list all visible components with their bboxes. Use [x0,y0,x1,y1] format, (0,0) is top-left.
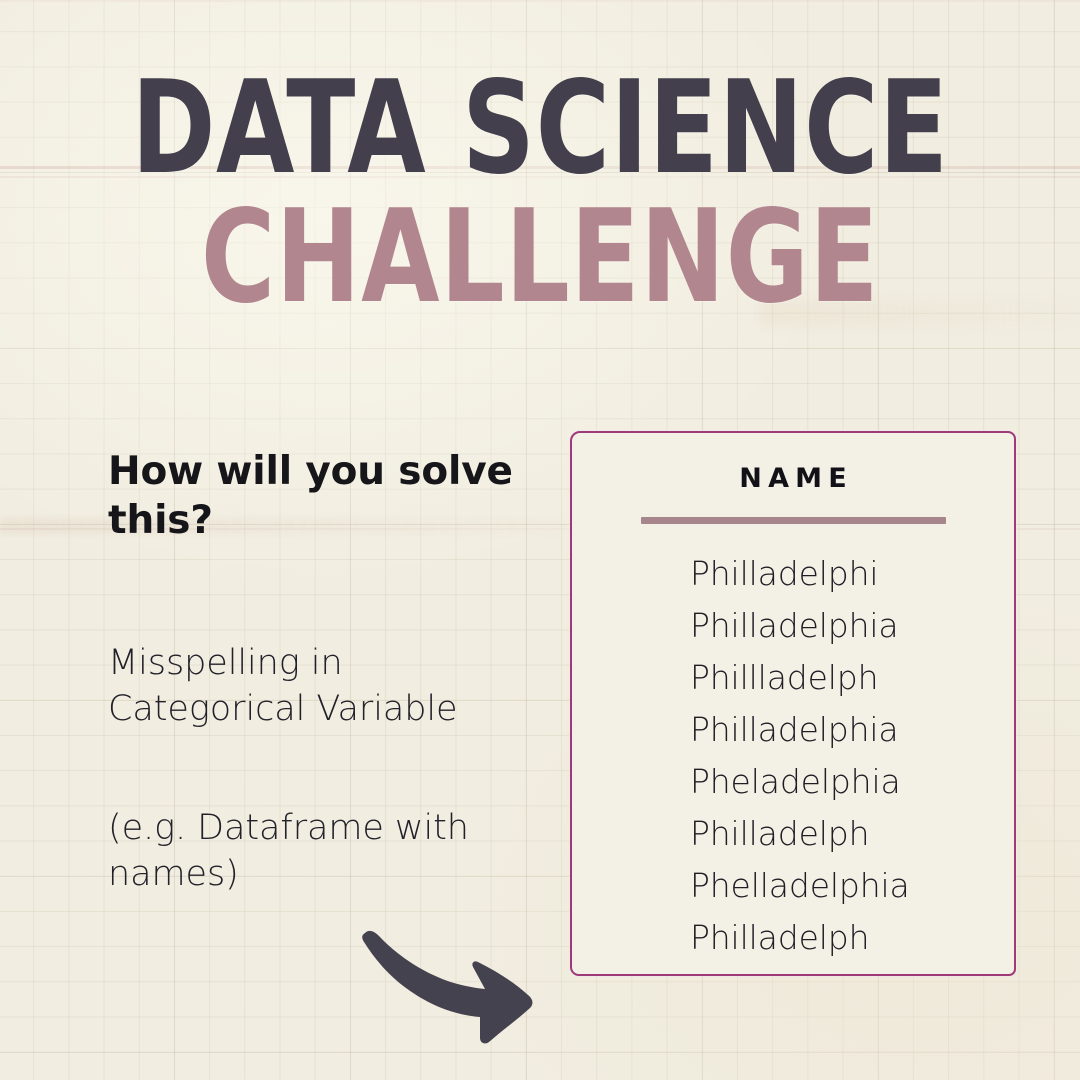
headline-line-primary: DATA SCIENCE [65,68,1015,191]
column-header-name: NAME [733,463,853,494]
list-item: Pheladelphia [690,756,1014,808]
curved-arrow-right-icon [355,925,555,1050]
list-item: Philladelphi [690,548,1014,600]
left-text-column: How will you solve this? Misspelling in … [108,447,548,897]
headline-line-accent: CHALLENGE [65,197,1015,320]
poster-canvas: DATA SCIENCE CHALLENGE How will you solv… [0,0,1080,1080]
curved-arrow-right-icon-svg [355,925,555,1050]
poster-headline: DATA SCIENCE CHALLENGE [0,68,1080,320]
list-item: Philladelphia [690,600,1014,652]
card-header: NAME [572,463,1014,494]
name-value-list: Philladelphi Philladelphia Phillladelph … [572,548,1014,964]
list-item: Philladelphia [690,704,1014,756]
name-column-card: NAME Philladelphi Philladelphia Philllad… [570,431,1016,976]
list-item: Phillladelph [690,652,1014,704]
list-item: Phelladelphia [690,860,1014,912]
paper-smudge-top [0,0,1080,2]
problem-description: Misspelling in Categorical Variable [108,641,548,732]
list-item: Philladelph [690,808,1014,860]
list-item: Philladelph [690,912,1014,964]
header-divider [641,517,946,524]
prompt-question: How will you solve this? [108,447,538,545]
example-note: (e.g. Dataframe with names) [108,806,548,897]
